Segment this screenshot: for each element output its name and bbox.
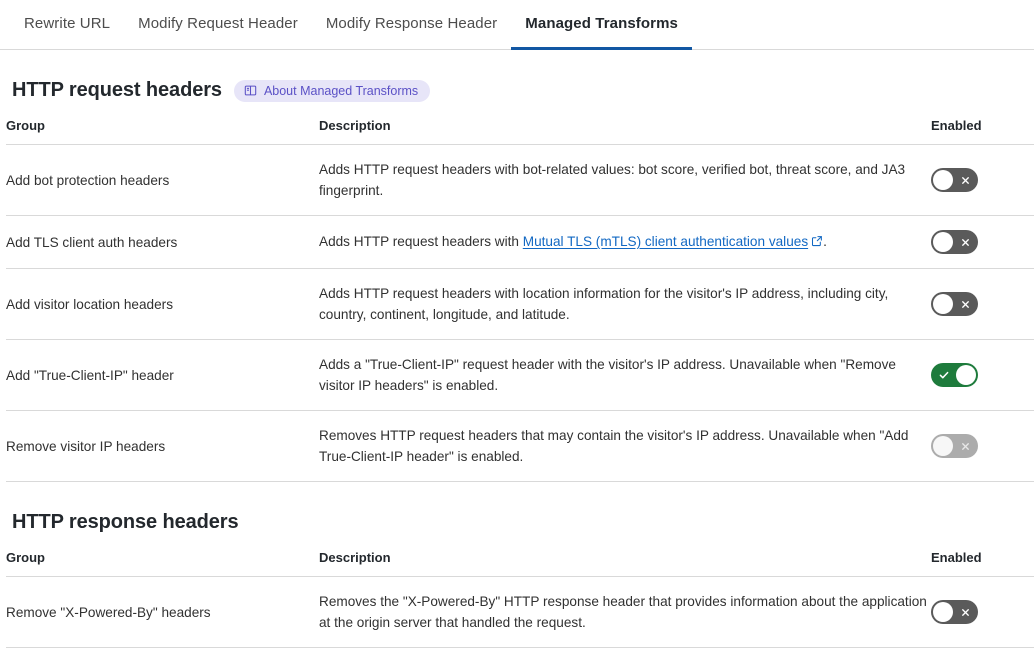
table-row: Add security headersAdds several securit… <box>6 648 1034 653</box>
row-enabled-cell <box>931 145 1034 216</box>
row-description: Adds HTTP request headers with Mutual TL… <box>319 216 931 269</box>
row-description: Adds a "True-Client-IP" request header w… <box>319 340 931 411</box>
row-group-name: Add "True-Client-IP" header <box>6 340 319 411</box>
section-http-request-headers: HTTP request headersAbout Managed Transf… <box>6 79 1028 482</box>
row-enabled-cell <box>931 340 1034 411</box>
table-row: Add bot protection headersAdds HTTP requ… <box>6 145 1034 216</box>
row-enabled-cell <box>931 577 1034 648</box>
close-icon <box>955 170 975 190</box>
column-header-group: Group <box>6 550 319 577</box>
enabled-toggle[interactable] <box>931 230 978 254</box>
book-icon <box>244 84 257 97</box>
row-description: Adds HTTP request headers with location … <box>319 269 931 340</box>
close-icon <box>955 436 975 456</box>
row-description: Removes the "X-Powered-By" HTTP response… <box>319 577 931 648</box>
row-group-name: Add security headers <box>6 648 319 653</box>
enabled-toggle[interactable] <box>931 292 978 316</box>
column-header-group: Group <box>6 118 319 145</box>
row-description: Adds several security-related HTTP respo… <box>319 648 931 653</box>
toggle-knob <box>933 602 953 622</box>
toggle-knob <box>933 232 953 252</box>
close-icon <box>955 602 975 622</box>
row-group-name: Remove "X-Powered-By" headers <box>6 577 319 648</box>
row-description: Adds HTTP request headers with bot-relat… <box>319 145 931 216</box>
row-group-name: Add TLS client auth headers <box>6 216 319 269</box>
mutual-tls-link[interactable]: Mutual TLS (mTLS) client authentication … <box>523 234 808 249</box>
enabled-toggle <box>931 434 978 458</box>
table-row: Add TLS client auth headersAdds HTTP req… <box>6 216 1034 269</box>
close-icon <box>955 294 975 314</box>
column-header-description: Description <box>319 118 931 145</box>
table-row: Add visitor location headersAdds HTTP re… <box>6 269 1034 340</box>
tab-managed-transforms[interactable]: Managed Transforms <box>511 0 692 50</box>
enabled-toggle[interactable] <box>931 363 978 387</box>
managed-transforms-table: GroupDescriptionEnabledAdd bot protectio… <box>6 118 1034 482</box>
table-row: Remove visitor IP headersRemoves HTTP re… <box>6 411 1034 482</box>
row-description: Removes HTTP request headers that may co… <box>319 411 931 482</box>
toggle-knob <box>933 294 953 314</box>
main-content: HTTP request headersAbout Managed Transf… <box>0 79 1034 653</box>
column-header-enabled: Enabled <box>931 118 1034 145</box>
tab-bar: Rewrite URLModify Request HeaderModify R… <box>0 0 1034 50</box>
row-group-name: Add bot protection headers <box>6 145 319 216</box>
check-icon <box>934 365 954 385</box>
table-row: Remove "X-Powered-By" headersRemoves the… <box>6 577 1034 648</box>
section-title: HTTP request headers <box>12 79 222 102</box>
description-suffix: . <box>823 234 827 249</box>
description-text: Adds HTTP request headers with <box>319 234 523 249</box>
column-header-description: Description <box>319 550 931 577</box>
enabled-toggle[interactable] <box>931 168 978 192</box>
column-header-enabled: Enabled <box>931 550 1034 577</box>
enabled-toggle[interactable] <box>931 600 978 624</box>
section-header: HTTP request headersAbout Managed Transf… <box>12 79 1028 102</box>
table-header-row: GroupDescriptionEnabled <box>6 118 1034 145</box>
section-title: HTTP response headers <box>12 511 239 534</box>
row-enabled-cell <box>931 269 1034 340</box>
row-enabled-cell <box>931 216 1034 269</box>
toggle-knob <box>933 436 953 456</box>
table-row: Add "True-Client-IP" headerAdds a "True-… <box>6 340 1034 411</box>
row-enabled-cell <box>931 648 1034 653</box>
managed-transforms-table: GroupDescriptionEnabledRemove "X-Powered… <box>6 550 1034 653</box>
close-icon <box>955 232 975 252</box>
tab-modify-response-header[interactable]: Modify Response Header <box>312 0 511 50</box>
table-header-row: GroupDescriptionEnabled <box>6 550 1034 577</box>
badge-label: About Managed Transforms <box>264 84 418 98</box>
tab-rewrite-url[interactable]: Rewrite URL <box>10 0 124 50</box>
section-http-response-headers: HTTP response headersGroupDescriptionEna… <box>6 511 1028 653</box>
external-link-icon <box>811 232 823 253</box>
about-managed-transforms-badge[interactable]: About Managed Transforms <box>234 80 430 102</box>
row-group-name: Remove visitor IP headers <box>6 411 319 482</box>
tab-modify-request-header[interactable]: Modify Request Header <box>124 0 312 50</box>
row-group-name: Add visitor location headers <box>6 269 319 340</box>
row-enabled-cell <box>931 411 1034 482</box>
section-header: HTTP response headers <box>12 511 1028 534</box>
toggle-knob <box>956 365 976 385</box>
toggle-knob <box>933 170 953 190</box>
